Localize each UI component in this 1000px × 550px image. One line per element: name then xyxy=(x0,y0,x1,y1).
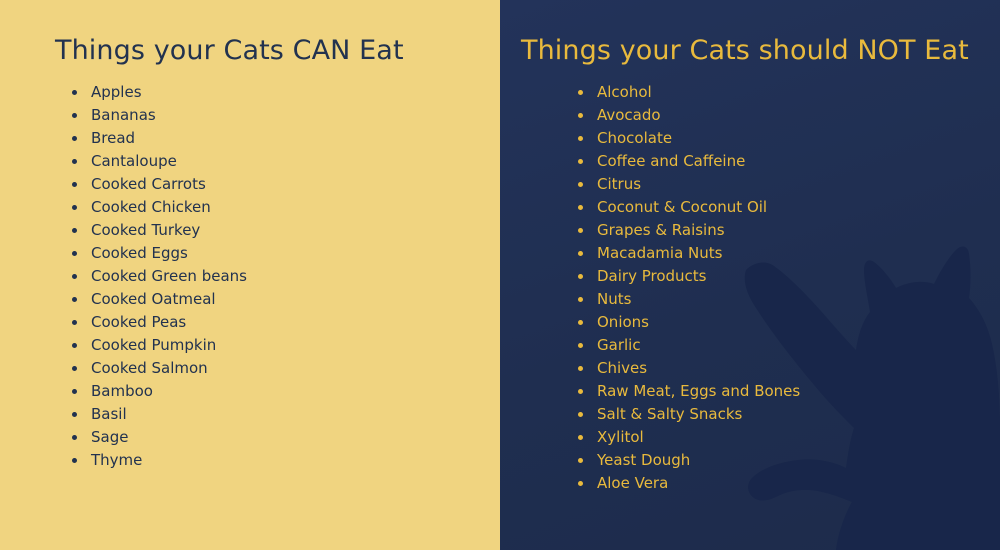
list-item: Raw Meat, Eggs and Bones xyxy=(578,380,800,403)
bullet-dot-icon xyxy=(578,274,583,279)
list-item: Salt & Salty Snacks xyxy=(578,403,800,426)
panel-not-eat: Things your Cats should NOT Eat AlcoholA… xyxy=(500,0,1000,550)
can-eat-item-label: Cooked Carrots xyxy=(91,175,206,193)
bullet-dot-icon xyxy=(72,435,77,440)
list-item: Sage xyxy=(72,426,247,449)
not-eat-item-label: Aloe Vera xyxy=(597,474,668,492)
list-item: Nuts xyxy=(578,288,800,311)
bullet-dot-icon xyxy=(578,435,583,440)
list-item: Chives xyxy=(578,357,800,380)
not-eat-item-label: Raw Meat, Eggs and Bones xyxy=(597,382,800,400)
bullet-dot-icon xyxy=(578,113,583,118)
panel-can-eat-title: Things your Cats CAN Eat xyxy=(55,35,404,66)
list-item: Grapes & Raisins xyxy=(578,219,800,242)
bullet-dot-icon xyxy=(72,205,77,210)
bullet-dot-icon xyxy=(578,343,583,348)
list-item: Xylitol xyxy=(578,426,800,449)
bullet-dot-icon xyxy=(72,90,77,95)
list-item: Garlic xyxy=(578,334,800,357)
bullet-dot-icon xyxy=(578,159,583,164)
can-eat-item-label: Cooked Chicken xyxy=(91,198,211,216)
bullet-dot-icon xyxy=(578,297,583,302)
not-eat-item-label: Citrus xyxy=(597,175,641,193)
list-item: Cooked Chicken xyxy=(72,196,247,219)
list-item: Apples xyxy=(72,81,247,104)
not-eat-item-label: Coconut & Coconut Oil xyxy=(597,198,767,216)
bullet-dot-icon xyxy=(72,343,77,348)
list-item: Bread xyxy=(72,127,247,150)
bullet-dot-icon xyxy=(72,228,77,233)
bullet-dot-icon xyxy=(72,297,77,302)
list-item: Aloe Vera xyxy=(578,472,800,495)
bullet-dot-icon xyxy=(578,412,583,417)
not-eat-item-label: Avocado xyxy=(597,106,661,124)
list-item: Cooked Salmon xyxy=(72,357,247,380)
bullet-dot-icon xyxy=(72,412,77,417)
bullet-dot-icon xyxy=(72,159,77,164)
list-item: Cooked Turkey xyxy=(72,219,247,242)
list-item: Alcohol xyxy=(578,81,800,104)
list-item: Dairy Products xyxy=(578,265,800,288)
list-item: Thyme xyxy=(72,449,247,472)
can-eat-item-label: Cooked Oatmeal xyxy=(91,290,216,308)
can-eat-item-label: Apples xyxy=(91,83,142,101)
bullet-dot-icon xyxy=(72,458,77,463)
list-item: Cooked Green beans xyxy=(72,265,247,288)
can-eat-item-label: Cooked Pumpkin xyxy=(91,336,216,354)
not-eat-item-label: Grapes & Raisins xyxy=(597,221,725,239)
list-item: Bananas xyxy=(72,104,247,127)
bullet-dot-icon xyxy=(578,458,583,463)
can-eat-item-label: Bread xyxy=(91,129,135,147)
list-item: Cooked Pumpkin xyxy=(72,334,247,357)
can-eat-item-label: Thyme xyxy=(91,451,142,469)
can-eat-item-label: Cantaloupe xyxy=(91,152,177,170)
list-item: Onions xyxy=(578,311,800,334)
can-eat-item-label: Cooked Green beans xyxy=(91,267,247,285)
bullet-dot-icon xyxy=(72,274,77,279)
not-eat-item-label: Xylitol xyxy=(597,428,644,446)
not-eat-item-label: Garlic xyxy=(597,336,641,354)
not-eat-item-label: Yeast Dough xyxy=(597,451,690,469)
list-item: Basil xyxy=(72,403,247,426)
not-eat-item-label: Chives xyxy=(597,359,647,377)
can-eat-item-label: Bananas xyxy=(91,106,156,124)
bullet-dot-icon xyxy=(578,228,583,233)
bullet-dot-icon xyxy=(578,251,583,256)
not-eat-item-label: Alcohol xyxy=(597,83,652,101)
not-eat-item-label: Chocolate xyxy=(597,129,672,147)
list-item: Coffee and Caffeine xyxy=(578,150,800,173)
not-eat-list: AlcoholAvocadoChocolateCoffee and Caffei… xyxy=(578,81,800,495)
bullet-dot-icon xyxy=(578,90,583,95)
bullet-dot-icon xyxy=(578,320,583,325)
panel-can-eat: Things your Cats CAN Eat ApplesBananasBr… xyxy=(0,0,500,550)
list-item: Coconut & Coconut Oil xyxy=(578,196,800,219)
bullet-dot-icon xyxy=(578,136,583,141)
bullet-dot-icon xyxy=(72,366,77,371)
can-eat-item-label: Cooked Peas xyxy=(91,313,186,331)
slide-canvas: Things your Cats CAN Eat ApplesBananasBr… xyxy=(0,0,1000,550)
panel-not-eat-title: Things your Cats should NOT Eat xyxy=(521,35,969,66)
bullet-dot-icon xyxy=(72,389,77,394)
not-eat-item-label: Nuts xyxy=(597,290,631,308)
list-item: Cooked Eggs xyxy=(72,242,247,265)
list-item: Cooked Carrots xyxy=(72,173,247,196)
list-item: Cantaloupe xyxy=(72,150,247,173)
not-eat-item-label: Dairy Products xyxy=(597,267,707,285)
not-eat-item-label: Coffee and Caffeine xyxy=(597,152,745,170)
list-item: Cooked Oatmeal xyxy=(72,288,247,311)
list-item: Avocado xyxy=(578,104,800,127)
can-eat-item-label: Cooked Turkey xyxy=(91,221,200,239)
bullet-dot-icon xyxy=(72,320,77,325)
list-item: Bamboo xyxy=(72,380,247,403)
list-item: Macadamia Nuts xyxy=(578,242,800,265)
list-item: Yeast Dough xyxy=(578,449,800,472)
bullet-dot-icon xyxy=(72,251,77,256)
can-eat-item-label: Basil xyxy=(91,405,127,423)
can-eat-item-label: Cooked Eggs xyxy=(91,244,188,262)
list-item: Cooked Peas xyxy=(72,311,247,334)
list-item: Chocolate xyxy=(578,127,800,150)
bullet-dot-icon xyxy=(72,136,77,141)
can-eat-list: ApplesBananasBreadCantaloupeCooked Carro… xyxy=(72,81,247,472)
not-eat-item-label: Salt & Salty Snacks xyxy=(597,405,742,423)
bullet-dot-icon xyxy=(578,205,583,210)
list-item: Citrus xyxy=(578,173,800,196)
bullet-dot-icon xyxy=(578,389,583,394)
bullet-dot-icon xyxy=(72,182,77,187)
can-eat-item-label: Bamboo xyxy=(91,382,153,400)
bullet-dot-icon xyxy=(578,182,583,187)
bullet-dot-icon xyxy=(578,481,583,486)
can-eat-item-label: Sage xyxy=(91,428,128,446)
bullet-dot-icon xyxy=(578,366,583,371)
not-eat-item-label: Macadamia Nuts xyxy=(597,244,722,262)
can-eat-item-label: Cooked Salmon xyxy=(91,359,208,377)
bullet-dot-icon xyxy=(72,113,77,118)
not-eat-item-label: Onions xyxy=(597,313,649,331)
